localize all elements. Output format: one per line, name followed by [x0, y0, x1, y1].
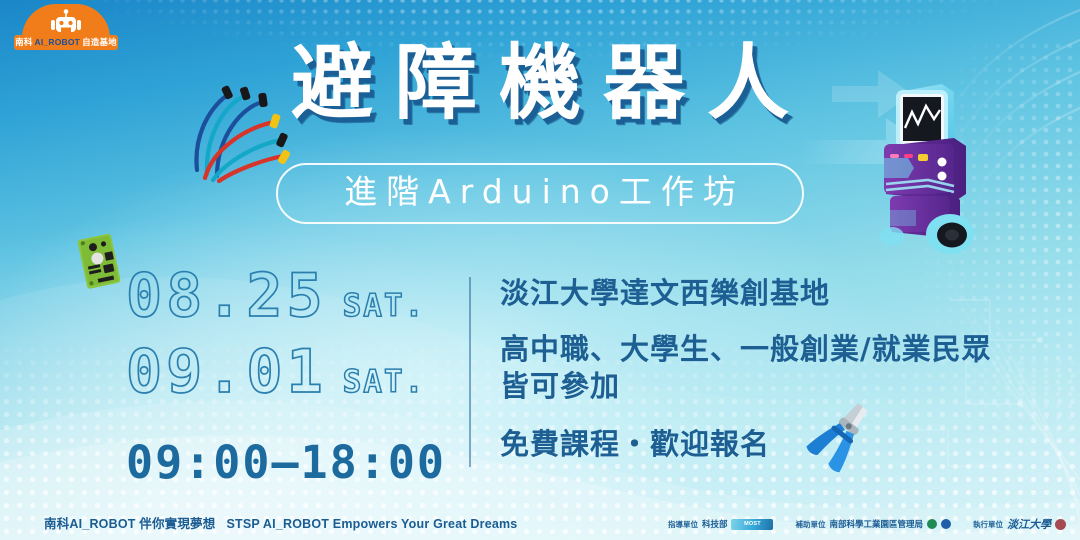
time-range: 09:00—18:00 — [126, 440, 456, 485]
details-column: 淡江大學達文西樂創基地 高中職、大學生、一般創業/就業民眾 皆可參加 免費課程・… — [500, 275, 1020, 464]
date-value: 09.01 — [126, 342, 327, 402]
most-logo-icon: MOST — [731, 519, 773, 530]
page-title: 避障機器人 — [0, 38, 1080, 130]
footer-slogan-cn: 南科AI_ROBOT 伴你實現夢想 — [44, 517, 215, 531]
credit-name: 南部科學工業園區管理局 — [829, 518, 923, 530]
subtitle-container: 進階Arduino工作坊 — [0, 163, 1080, 224]
price-text: 免費課程・歡迎報名 — [500, 426, 1020, 464]
schedule-column: 08.25 SAT. 09.01 SAT. 09:00—18:00 — [126, 266, 456, 485]
logo-text-suffix: 自造基地 — [82, 38, 117, 47]
date-row: 09.01 SAT. — [126, 342, 456, 418]
logo-wordmark: 南科 AI_ROBOT 自造基地 — [14, 35, 118, 50]
credit-name: 科技部 — [702, 518, 728, 530]
footer-bar: 南科AI_ROBOT 伴你實現夢想 STSP AI_ROBOT Empowers… — [0, 504, 1080, 540]
page-subtitle: 進階Arduino工作坊 — [276, 163, 804, 224]
date-value: 08.25 — [126, 266, 327, 326]
logo-text-cn: 南科 — [15, 38, 32, 47]
date-row: 08.25 SAT. — [126, 266, 456, 342]
credit-funding: 補助單位 南部科學工業園區管理局 — [795, 518, 951, 530]
stsp-logo-icon — [927, 519, 937, 529]
audience-line-1: 高中職、大學生、一般創業/就業民眾 — [500, 331, 1020, 369]
column-divider — [469, 277, 471, 467]
footer-slogan: 南科AI_ROBOT 伴你實現夢想 STSP AI_ROBOT Empowers… — [44, 513, 517, 532]
credit-label: 執行單位 — [973, 519, 1003, 530]
brand-logo: 南科 AI_ROBOT 自造基地 — [14, 4, 118, 50]
date-weekday: SAT. — [343, 367, 426, 398]
credit-label: 指導單位 — [668, 519, 698, 530]
sensor-module-illustration — [72, 230, 128, 292]
credit-executor: 執行單位 淡江大學 — [973, 516, 1066, 532]
audience-line-2: 皆可參加 — [500, 368, 1020, 406]
tku-seal-icon — [1055, 519, 1066, 530]
poster: 南科 AI_ROBOT 自造基地 — [0, 0, 1080, 540]
stsp-logo-icon-secondary — [941, 519, 951, 529]
credit-guidance: 指導單位 科技部 MOST — [668, 518, 774, 530]
date-weekday: SAT. — [343, 291, 426, 322]
credit-name: 淡江大學 — [1007, 516, 1051, 532]
logo-text-en: AI_ROBOT — [35, 38, 81, 47]
venue-text: 淡江大學達文西樂創基地 — [500, 275, 1020, 313]
robot-icon — [47, 9, 85, 37]
footer-slogan-en: STSP AI_ROBOT Empowers Your Great Dreams — [227, 517, 518, 531]
credit-label: 補助單位 — [795, 519, 825, 530]
footer-credits: 指導單位 科技部 MOST 補助單位 南部科學工業園區管理局 執行單位 淡江大學 — [668, 516, 1066, 532]
